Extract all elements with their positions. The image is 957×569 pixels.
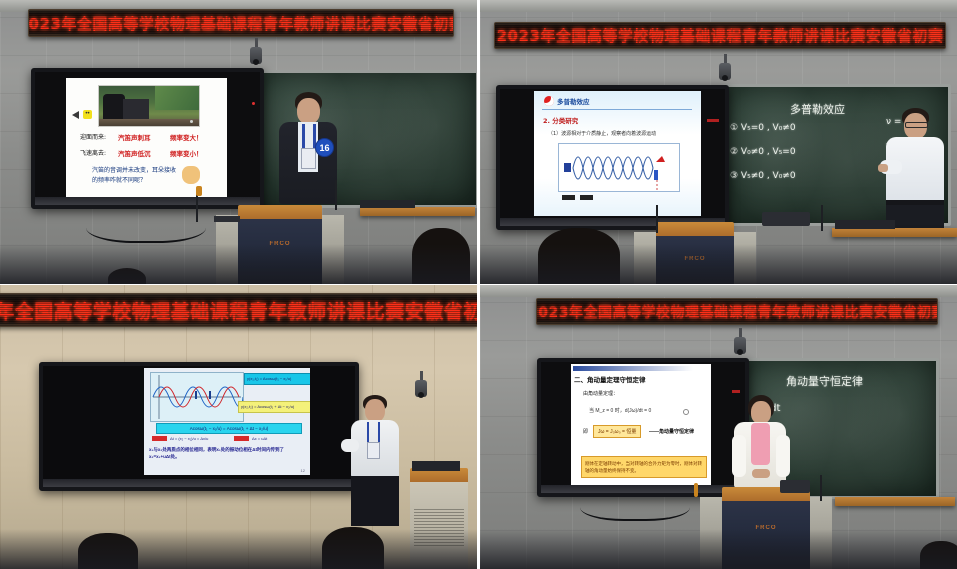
wave-plot-svg-bl bbox=[151, 373, 243, 421]
presenter-head-tl bbox=[297, 98, 320, 124]
train-cars bbox=[123, 99, 149, 119]
mic-stand-tl bbox=[196, 192, 198, 222]
presenter-lanyard2-bl bbox=[378, 422, 380, 442]
slide-line2-label: 飞速离去: bbox=[80, 148, 106, 157]
mic-tl bbox=[196, 186, 202, 196]
mic-stand-br bbox=[820, 475, 822, 501]
screen-bezel-bl bbox=[43, 479, 355, 487]
presenter-idcard-bl bbox=[367, 442, 380, 459]
presenter-arm-right-br bbox=[776, 435, 790, 477]
presenter-belt-tr bbox=[886, 200, 944, 205]
photo-grid: 2023年全国高等学校物理基础课程青年教师讲课比赛安徽省初赛 bbox=[0, 0, 957, 569]
mic-stand-tr bbox=[656, 205, 658, 233]
floor-shadow-tr bbox=[480, 244, 957, 284]
formula-box-cyan-bl: y(x₁,t₁) = Acosω(t₁ − x₁/u) bbox=[244, 373, 310, 385]
presenter-bl bbox=[345, 395, 407, 527]
interactive-screen-tr[interactable]: 多普勒效应 2. 分类研究 （1）波源相对于介质静止，观察者向着波源运动 bbox=[496, 85, 729, 230]
ceiling-strip-br bbox=[480, 285, 957, 297]
photo-dot bbox=[190, 120, 193, 123]
floor-cable-tl bbox=[86, 205, 206, 243]
led-banner-text-tr: 2023年全国高等学校物理基础课程青年教师讲课比赛安徽省初赛 bbox=[497, 25, 944, 46]
slide-br: 二、角动量定理守恒定律 由角动量定理： 当 M_z = 0 时，d(Jω)/dt… bbox=[571, 364, 711, 488]
presenter-head-br bbox=[751, 401, 771, 424]
interactive-screen-br[interactable]: 二、角动量定理守恒定律 由角动量定理： 当 M_z = 0 时，d(Jω)/dt… bbox=[537, 358, 749, 497]
blackboard-line1-tr: ① V₅=0 , V₀≠0 bbox=[730, 123, 796, 133]
led-banner-text-tl: 2023年全国高等学校物理基础课程青年教师讲课比赛安徽省初赛 bbox=[28, 13, 454, 34]
formula-box-main-bl: Acosω(t₁ − x₁/u) = Acosω(t₁ + Δt − x₂/u) bbox=[156, 423, 302, 434]
slide-rule-tr bbox=[542, 109, 692, 110]
side-table-br bbox=[835, 497, 955, 506]
slide-ctrl-btn-1[interactable] bbox=[562, 195, 575, 200]
presenter-hand-tr bbox=[878, 164, 888, 172]
podium-device-br bbox=[780, 480, 810, 493]
screen-bezel-tl bbox=[35, 197, 260, 205]
classroom-scene-tl: 2023年全国高等学校物理基础课程青年教师讲课比赛安徽省初赛 bbox=[0, 0, 477, 284]
podium-device-tr bbox=[762, 212, 810, 226]
presenter-lanyard-bl bbox=[367, 422, 369, 442]
led-banner-tl: 2023年全国高等学校物理基础课程青年教师讲课比赛安徽省初赛 bbox=[28, 9, 454, 37]
ceiling-camera-tr bbox=[719, 54, 731, 82]
presenter-arm-bl bbox=[341, 439, 359, 452]
wave-plot-bl bbox=[150, 372, 244, 422]
ceiling-camera-bl bbox=[415, 371, 427, 399]
floor-shadow-bl bbox=[0, 529, 477, 569]
presenter-br bbox=[730, 395, 792, 491]
slide-tr: 多普勒效应 2. 分类研究 （1）波源相对于介质静止，观察者向着波源运动 bbox=[534, 91, 701, 216]
side-table-tl bbox=[360, 207, 475, 216]
led-banner-text-br: 2023年全国高等学校物理基础课程青年教师讲课比赛安徽省初赛 bbox=[536, 302, 938, 322]
hillside bbox=[155, 86, 199, 110]
slide-question: 汽笛的音调并未改变，耳朵接收的频率咋就不同呢？ bbox=[92, 166, 180, 186]
lectern-monitor-tl bbox=[214, 216, 240, 222]
slide-bullet-tr: （1）波源相对于介质静止，观察者向着波源运动 bbox=[548, 130, 656, 137]
panel-top-right[interactable]: 2023年全国高等学校物理基础课程青年教师讲课比赛安徽省初赛 多普勒效应 ① V… bbox=[480, 0, 957, 284]
display-wall-bl: y(x₁,t₁) = Acosω(t₁ − x₁/u) y(x₂,t₂) = A… bbox=[39, 362, 359, 491]
interactive-screen-tl[interactable]: •• 迎面而来: 汽笛声刺耳 频率变大！ 飞速离去: 汽笛声低沉 频率变小！ 汽… bbox=[31, 68, 264, 209]
led-banner-bl: 23年全国高等学校物理基础课程青年教师讲课比赛安徽省初赛 bbox=[0, 293, 477, 327]
slide-tl: •• 迎面而来: 汽笛声刺耳 频率变大！ 飞速离去: 汽笛声低沉 频率变小！ 汽… bbox=[66, 78, 227, 198]
mic-stand2-tl bbox=[335, 180, 337, 210]
presenter-arm-left-br bbox=[732, 435, 746, 477]
led-banner-tr: 2023年全国高等学校物理基础课程青年教师讲课比赛安徽省初赛 bbox=[494, 22, 946, 49]
blackboard-line2-tr: ② V₀≠0 , V₅=0 bbox=[730, 147, 796, 157]
slide-result-note-br: ——角动量守恒定律 bbox=[649, 428, 694, 435]
slide-bl: y(x₁,t₁) = Acosω(t₁ − x₁/u) y(x₂,t₂) = A… bbox=[144, 368, 310, 475]
camera-lens-tl bbox=[253, 59, 259, 65]
slide-line1-mid: 汽笛声刺耳 bbox=[118, 132, 151, 142]
slide-highlight-box-br: 刚体在定轴转动中，当对转轴的合外力矩为零时，刚体对转轴的角动量始终保持不变。 bbox=[581, 456, 707, 478]
presenter-lanyard-tl bbox=[302, 124, 305, 148]
laptop-tl bbox=[360, 200, 415, 208]
slide-result-formula-br: Jω = J₀ω₀ = 恒量 bbox=[593, 425, 641, 438]
wave-figure-tr bbox=[558, 143, 680, 192]
led-banner-br: 2023年全国高等学校物理基础课程青年教师讲课比赛安徽省初赛 bbox=[536, 298, 938, 325]
laptop-bl bbox=[412, 461, 460, 471]
wave-svg-tr bbox=[559, 144, 679, 191]
slide-condition-br: 当 M_z = 0 时，d(Jω)/dt = 0 bbox=[589, 407, 651, 414]
competitor-badge-tl: 16 bbox=[315, 138, 334, 157]
speaker-icon bbox=[72, 111, 79, 119]
slide-line2-mid: 汽笛声低沉 bbox=[118, 148, 151, 158]
smiley-icon: •• bbox=[83, 110, 92, 119]
screen-indicator-tl bbox=[252, 102, 255, 105]
classroom-scene-br: 2023年全国高等学校物理基础课程青年教师讲课比赛安徽省初赛 角动量守恒定律 ∫… bbox=[480, 285, 957, 569]
led-banner-text-bl: 23年全国高等学校物理基础课程青年教师讲课比赛安徽省初赛 bbox=[0, 297, 477, 324]
slide-ctrl-btn-2[interactable] bbox=[580, 195, 593, 200]
dog-clipart-icon bbox=[182, 166, 200, 184]
ceiling-camera-tl bbox=[250, 38, 262, 66]
presenter-hands-br bbox=[752, 469, 770, 478]
slide-note-bl: x₁与x₂处两质点的相位相同，表明x₁处的振动位相在Δt时间内传到了x₂=x₁+… bbox=[149, 446, 304, 460]
screen-indicator-tr bbox=[707, 119, 719, 122]
side-table-tr bbox=[832, 228, 957, 237]
panel-top-left[interactable]: 2023年全国高等学校物理基础课程青年教师讲课比赛安徽省初赛 bbox=[0, 0, 477, 284]
slide-line2-right: 频率变小！ bbox=[170, 148, 203, 158]
slide-result-label-br: 即 bbox=[583, 428, 588, 435]
arrow-icon-1-bl bbox=[152, 436, 167, 441]
presenter-glasses-icon-tr bbox=[905, 122, 928, 128]
blackboard-title-br: 角动量守恒定律 bbox=[786, 373, 863, 389]
slide-page-number-bl: 12 bbox=[301, 468, 305, 473]
floor-cable-br bbox=[580, 487, 690, 521]
panel-bottom-right[interactable]: 2023年全国高等学校物理基础课程青年教师讲课比赛安徽省初赛 角动量守恒定律 ∫… bbox=[480, 285, 957, 569]
train-photo bbox=[98, 85, 200, 127]
presenter-top-br bbox=[751, 423, 770, 465]
screen-indicator-br bbox=[732, 390, 740, 393]
slide-heading-br: 二、角动量定理守恒定律 bbox=[574, 374, 646, 384]
red-circle-logo-icon bbox=[544, 96, 554, 106]
blackboard-title-tr: 多普勒效应 bbox=[790, 101, 845, 117]
derived-1-bl: Δt = (x₂ − x₁)/u = Δx/u bbox=[170, 436, 208, 441]
camera-lens-tr bbox=[722, 75, 728, 81]
ceiling-camera-br bbox=[734, 328, 746, 356]
presenter-tr bbox=[880, 108, 952, 232]
derived-2-bl: Δx = uΔt bbox=[252, 436, 267, 441]
formula-box-yellow-bl: y(x₂,t₂) = Acosω(t₁ + Δt − x₂/u) bbox=[238, 401, 310, 413]
slide-line1-right: 频率变大！ bbox=[170, 132, 203, 142]
blackboard-line3-tr: ③ V₅≠0 , V₀≠0 bbox=[730, 171, 796, 181]
mic-br bbox=[694, 483, 698, 497]
panel-bottom-left[interactable]: 23年全国高等学校物理基础课程青年教师讲课比赛安徽省初赛 bbox=[0, 285, 477, 569]
classroom-scene-tr: 2023年全国高等学校物理基础课程青年教师讲课比赛安徽省初赛 多普勒效应 ① V… bbox=[480, 0, 957, 284]
slide-sub-br: 由角动量定理： bbox=[583, 390, 618, 397]
slide-line1-label: 迎面而来: bbox=[80, 132, 106, 141]
laptop-tr bbox=[835, 220, 895, 229]
presenter-head-bl bbox=[365, 399, 385, 422]
presenter-trousers-bl bbox=[351, 476, 399, 526]
train-track bbox=[99, 119, 199, 126]
camera-lens-bl bbox=[418, 392, 424, 398]
slide-bullet-circle-icon-br bbox=[683, 409, 689, 415]
ceiling-strip-tr bbox=[480, 0, 957, 12]
slide-section-tr: 2. 分类研究 bbox=[543, 115, 578, 125]
mic-stand2-tr bbox=[821, 205, 823, 231]
slide-titlebar-br bbox=[573, 366, 693, 371]
train-locomotive bbox=[103, 94, 125, 120]
floor-shadow-tl bbox=[0, 244, 477, 284]
floor-shadow-br bbox=[480, 529, 957, 569]
presenter-idcard-tl bbox=[301, 148, 316, 169]
slide-header-tr: 多普勒效应 bbox=[557, 96, 590, 106]
camera-lens-br bbox=[737, 349, 743, 355]
classroom-scene-bl: 23年全国高等学校物理基础课程青年教师讲课比赛安徽省初赛 bbox=[0, 285, 477, 569]
arrow-icon-2-bl bbox=[234, 436, 249, 441]
